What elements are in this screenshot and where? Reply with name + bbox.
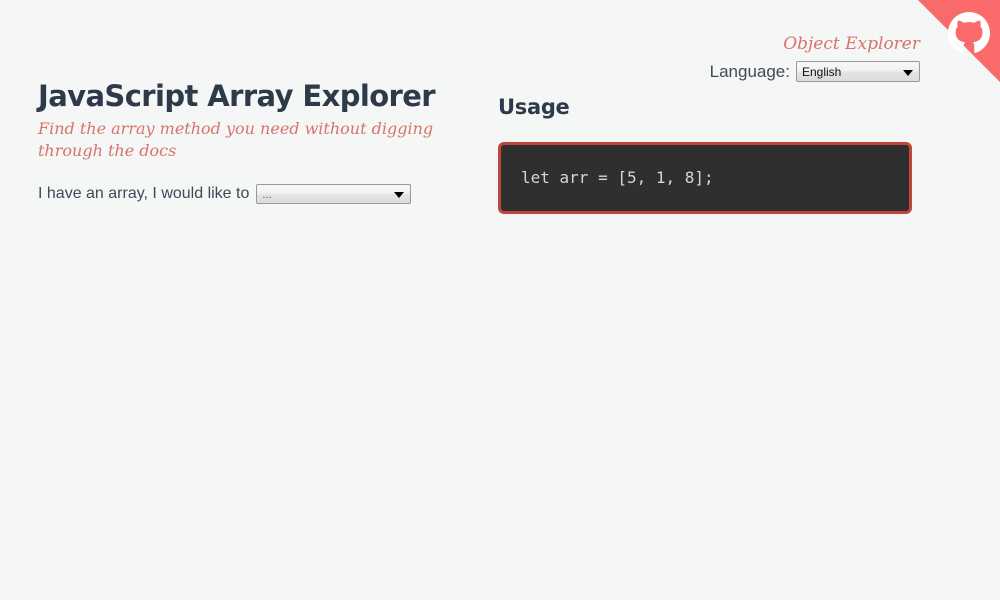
github-fork-ribbon[interactable]: [918, 0, 1000, 82]
language-label: Language:: [710, 62, 790, 82]
usage-panel: Usage let arr = [5, 1, 8];: [498, 94, 918, 214]
language-select-wrapper[interactable]: English: [796, 61, 920, 82]
usage-code-block: let arr = [5, 1, 8];: [498, 142, 912, 214]
language-row: Language: English: [560, 61, 920, 82]
array-action-select[interactable]: ...: [256, 184, 411, 204]
page-subtitle: Find the array method you need without d…: [38, 118, 460, 162]
language-select[interactable]: English: [796, 61, 920, 82]
github-octocat-icon: [948, 12, 990, 54]
object-explorer-link[interactable]: Object Explorer: [783, 34, 920, 54]
action-select-wrapper[interactable]: ...: [256, 184, 411, 204]
usage-code-text: let arr = [5, 1, 8];: [521, 167, 714, 189]
usage-heading: Usage: [498, 94, 918, 120]
intro-panel: JavaScript Array Explorer Find the array…: [38, 78, 468, 204]
page-title: JavaScript Array Explorer: [38, 78, 468, 114]
query-prefix-label: I have an array, I would like to: [38, 185, 249, 203]
query-builder-row: I have an array, I would like to ...: [38, 184, 468, 204]
